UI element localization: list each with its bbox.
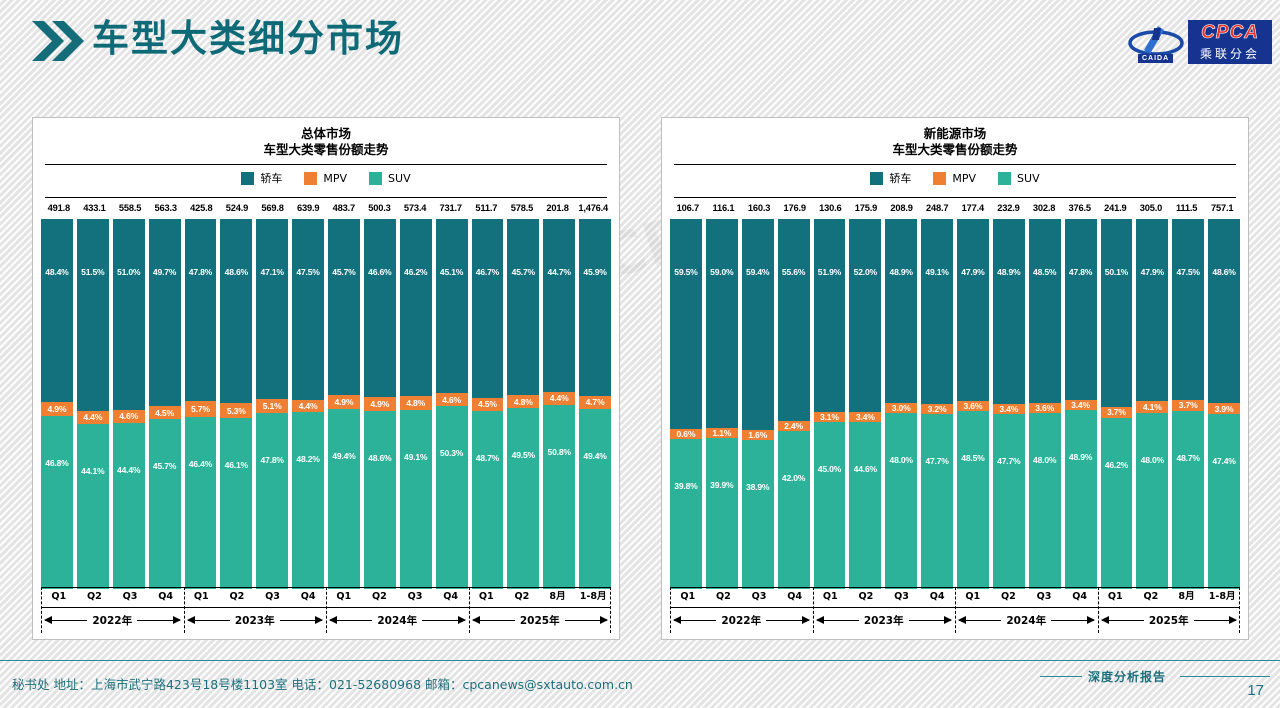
year-group: 2024年 <box>326 607 469 633</box>
segment-label: 3.4% <box>1071 400 1090 410</box>
total-value: 177.4 <box>955 203 991 213</box>
bar-segment-轿车[interactable]: 47.1% <box>256 219 288 399</box>
bar-column[interactable]: 48.9%3.0%48.0% <box>885 219 917 589</box>
segment-label: 45.1% <box>440 267 463 277</box>
footer-contact: 秘书处 地址：上海市武宁路423号18号楼1103室 电话：021-526809… <box>12 674 633 693</box>
bar-column[interactable]: 50.1%3.7%46.2% <box>1101 219 1133 589</box>
year-label: 2022年 <box>87 613 137 628</box>
chart-panel-nev: 新能源市场车型大类零售份额走势轿车MPVSUV106.7116.1160.317… <box>661 117 1249 640</box>
segment-label: 49.1% <box>404 452 427 462</box>
segment-label: 3.2% <box>928 404 947 414</box>
segment-label: 47.8% <box>261 455 284 465</box>
segment-label: 52.0% <box>854 267 877 277</box>
bar-segment-suv[interactable]: 42.0% <box>778 431 810 589</box>
segment-label: 44.7% <box>548 267 571 277</box>
bar-column[interactable]: 48.9%3.4%47.7% <box>993 219 1025 589</box>
legend-label: SUV <box>1017 172 1040 185</box>
x-axis: Q1Q2Q3Q4Q1Q2Q3Q4Q1Q2Q3Q4Q1Q28月1-8月2022年2… <box>670 587 1240 635</box>
bar-segment-mpv[interactable]: 5.7% <box>185 401 217 417</box>
bar-segment-mpv[interactable]: 4.8% <box>400 396 432 409</box>
bar-column[interactable]: 45.7%4.9%49.4% <box>328 219 360 589</box>
segment-label: 48.9% <box>1069 452 1092 462</box>
segment-label: 50.1% <box>1105 267 1128 277</box>
segment-label: 4.1% <box>1143 402 1162 412</box>
cpca-ellipse-icon <box>1128 24 1184 58</box>
bar-segment-轿车[interactable]: 51.0% <box>113 219 145 410</box>
segment-label: 49.4% <box>332 451 355 461</box>
bar-column[interactable]: 51.5%4.4%44.1% <box>77 219 109 589</box>
segment-label: 1.1% <box>712 428 731 438</box>
bar-segment-轿车[interactable]: 48.4% <box>41 219 73 402</box>
bar-segment-suv[interactable]: 48.2% <box>292 412 324 589</box>
bar-column[interactable]: 44.7%4.4%50.8% <box>543 219 575 589</box>
bar-segment-suv[interactable]: 39.9% <box>706 438 738 589</box>
bar-segment-suv[interactable]: 50.3% <box>436 406 468 589</box>
bar-segment-mpv[interactable]: 4.9% <box>41 402 73 416</box>
cpca-wordmark: CPCA <box>1188 22 1272 44</box>
year-label: 2023年 <box>230 613 280 628</box>
bar-segment-mpv[interactable]: 4.4% <box>77 411 109 423</box>
total-value: 511.7 <box>469 203 505 213</box>
bar-segment-suv[interactable]: 48.5% <box>957 411 989 589</box>
bar-segment-mpv[interactable]: 4.7% <box>579 396 611 409</box>
bars-area: 59.5%0.6%39.8%59.0%1.1%39.9%59.4%1.6%38.… <box>670 219 1240 589</box>
bar-column[interactable]: 55.6%2.4%42.0% <box>778 219 810 589</box>
year-label: 2025年 <box>1144 613 1194 628</box>
segment-label: 3.4% <box>856 412 875 422</box>
year-divider <box>610 587 611 633</box>
segment-label: 47.5% <box>296 267 319 277</box>
bar-segment-轿车[interactable]: 47.8% <box>1065 219 1097 400</box>
segment-label: 48.4% <box>45 267 68 277</box>
bar-segment-轿车[interactable]: 47.5% <box>292 219 324 400</box>
bar-segment-suv[interactable]: 49.4% <box>328 409 360 589</box>
bar-column[interactable]: 47.5%4.4%48.2% <box>292 219 324 589</box>
axis-tick-label: Q2 <box>504 587 540 607</box>
double-chevron-right-icon <box>30 17 86 65</box>
bar-column[interactable]: 48.5%3.6%48.0% <box>1029 219 1061 589</box>
axis-tick-label: Q4 <box>919 587 955 607</box>
bar-segment-mpv[interactable]: 3.6% <box>957 401 989 411</box>
segment-label: 51.9% <box>818 267 841 277</box>
segment-label: 46.7% <box>476 267 499 277</box>
bar-segment-mpv[interactable]: 4.1% <box>1136 401 1168 412</box>
segment-label: 46.1% <box>225 460 248 470</box>
axis-tick-label: Q4 <box>1062 587 1098 607</box>
bar-segment-mpv[interactable]: 1.6% <box>742 430 774 440</box>
axis-tick-label: Q4 <box>777 587 813 607</box>
bar-segment-suv[interactable]: 48.0% <box>885 413 917 589</box>
segment-label: 59.4% <box>746 267 769 277</box>
bar-segment-轿车[interactable]: 59.5% <box>670 219 702 429</box>
segment-label: 42.0% <box>782 473 805 483</box>
segment-label: 4.6% <box>119 411 138 421</box>
segment-label: 48.9% <box>997 267 1020 277</box>
totals-row: 106.7116.1160.3176.9130.6175.9208.9248.7… <box>670 198 1240 218</box>
bar-column[interactable]: 48.4%4.9%46.8% <box>41 219 73 589</box>
page-title: 车型大类细分市场 <box>92 14 404 64</box>
bar-segment-轿车[interactable]: 52.0% <box>849 219 881 412</box>
bar-segment-轿车[interactable]: 45.9% <box>579 219 611 396</box>
segment-label: 4.4% <box>83 412 102 422</box>
bar-segment-suv[interactable]: 38.9% <box>742 440 774 589</box>
total-value: 491.8 <box>41 203 77 213</box>
segment-label: 4.4% <box>299 401 318 411</box>
year-divider <box>955 587 956 633</box>
bar-segment-轿车[interactable]: 48.9% <box>993 219 1025 404</box>
bar-segment-mpv[interactable]: 4.4% <box>543 392 575 404</box>
bar-column[interactable]: 49.7%4.5%45.7% <box>149 219 181 589</box>
axis-tick-label: Q1 <box>955 587 991 607</box>
bar-segment-轿车[interactable]: 55.6% <box>778 219 810 421</box>
bar-column[interactable]: 46.7%4.5%48.7% <box>472 219 504 589</box>
chart-panel-overall: 总体市场车型大类零售份额走势轿车MPVSUV491.8433.1558.5563… <box>32 117 620 640</box>
segment-label: 3.7% <box>1107 407 1126 417</box>
bar-segment-轿车[interactable]: 47.9% <box>957 219 989 401</box>
year-label: 2024年 <box>372 613 422 628</box>
bar-column[interactable]: 52.0%3.4%44.6% <box>849 219 881 589</box>
segment-label: 48.0% <box>1033 455 1056 465</box>
total-value: 111.5 <box>1169 203 1205 213</box>
year-label: 2022年 <box>716 613 766 628</box>
segment-label: 45.7% <box>512 267 535 277</box>
bar-segment-suv[interactable]: 48.9% <box>1065 410 1097 589</box>
bar-segment-mpv[interactable]: 3.7% <box>1101 407 1133 417</box>
bar-segment-mpv[interactable]: 4.6% <box>436 393 468 406</box>
cpca-subtitle: 乘联分会 <box>1188 45 1272 62</box>
segment-label: 46.6% <box>368 267 391 277</box>
bar-segment-轿车[interactable]: 48.6% <box>220 219 252 403</box>
total-value: 433.1 <box>77 203 113 213</box>
axis-tick-label: Q1 <box>469 587 505 607</box>
bar-column[interactable]: 51.9%3.1%45.0% <box>814 219 846 589</box>
bar-segment-mpv[interactable]: 4.5% <box>149 406 181 419</box>
segment-label: 3.6% <box>1035 403 1054 413</box>
bar-segment-轿车[interactable]: 45.1% <box>436 219 468 393</box>
footer-rule-left <box>1040 676 1082 677</box>
axis-tick-label: 8月 <box>1169 587 1205 607</box>
legend-label: SUV <box>388 172 411 185</box>
caida-mark: CAIDA <box>1138 54 1173 63</box>
bar-segment-mpv[interactable]: 1.1% <box>706 428 738 438</box>
segment-label: 3.6% <box>964 401 983 411</box>
year-divider <box>1098 587 1099 633</box>
total-value: 500.3 <box>362 203 398 213</box>
segment-label: 3.4% <box>999 404 1018 414</box>
bar-column[interactable]: 47.1%5.1%47.8% <box>256 219 288 589</box>
bar-segment-suv[interactable]: 47.8% <box>256 413 288 589</box>
segment-label: 47.4% <box>1212 456 1235 466</box>
page-number: 17 <box>1247 682 1264 699</box>
bar-segment-mpv[interactable]: 3.4% <box>1065 400 1097 410</box>
bar-segment-suv[interactable]: 44.4% <box>113 423 145 589</box>
axis-tick-label: Q2 <box>362 587 398 607</box>
segment-label: 48.9% <box>890 267 913 277</box>
segment-label: 47.7% <box>925 456 948 466</box>
total-value: 1,476.4 <box>575 203 611 213</box>
bar-segment-suv[interactable]: 48.6% <box>364 411 396 589</box>
total-value: 201.8 <box>540 203 576 213</box>
segment-label: 47.9% <box>1141 267 1164 277</box>
segment-label: 3.9% <box>1215 404 1234 414</box>
total-value: 302.8 <box>1026 203 1062 213</box>
legend-swatch-icon <box>304 172 317 185</box>
legend-swatch-icon <box>998 172 1011 185</box>
year-divider <box>41 587 42 633</box>
segment-label: 4.5% <box>155 408 174 418</box>
year-label: 2025年 <box>515 613 565 628</box>
bar-column[interactable]: 59.4%1.6%38.9% <box>742 219 774 589</box>
bar-segment-mpv[interactable]: 3.1% <box>814 412 846 422</box>
bar-segment-suv[interactable]: 47.7% <box>921 414 953 589</box>
bar-segment-suv[interactable]: 45.0% <box>814 422 846 589</box>
bar-segment-suv[interactable]: 48.7% <box>472 411 504 590</box>
legend-item-suv[interactable]: SUV <box>998 172 1040 185</box>
year-group: 2023年 <box>813 607 956 633</box>
total-value: 248.7 <box>919 203 955 213</box>
bar-segment-mpv[interactable]: 4.9% <box>364 397 396 411</box>
chart-subtitle: 车型大类零售份额走势 <box>892 142 1017 157</box>
segment-label: 48.7% <box>476 453 499 463</box>
segment-label: 49.7% <box>153 267 176 277</box>
bar-column[interactable]: 45.9%4.7%49.4% <box>579 219 611 589</box>
bar-column[interactable]: 51.0%4.6%44.4% <box>113 219 145 589</box>
legend-item-suv[interactable]: SUV <box>369 172 411 185</box>
footer-divider <box>0 660 1280 661</box>
bar-segment-轿车[interactable]: 48.5% <box>1029 219 1061 403</box>
year-divider <box>184 587 185 633</box>
bar-segment-轿车[interactable]: 50.1% <box>1101 219 1133 407</box>
bar-segment-suv[interactable]: 46.2% <box>1101 418 1133 589</box>
segment-label: 59.0% <box>710 267 733 277</box>
segment-label: 4.5% <box>478 399 497 409</box>
cpca-logo-box: CPCA 乘联分会 <box>1188 20 1272 64</box>
axis-tick-label: Q2 <box>77 587 113 607</box>
bar-segment-轿车[interactable]: 45.7% <box>507 219 539 395</box>
bar-segment-mpv[interactable]: 4.6% <box>113 410 145 423</box>
bar-segment-suv[interactable]: 50.8% <box>543 405 575 589</box>
bar-segment-轿车[interactable]: 46.7% <box>472 219 504 398</box>
bar-segment-mpv[interactable]: 3.4% <box>993 404 1025 414</box>
axis-tick-label: Q2 <box>991 587 1027 607</box>
bar-column[interactable]: 59.5%0.6%39.8% <box>670 219 702 589</box>
bar-segment-mpv[interactable]: 3.2% <box>921 404 953 414</box>
segment-label: 4.7% <box>586 397 605 407</box>
axis-tick-label: 8月 <box>540 587 576 607</box>
bar-column[interactable]: 47.9%3.6%48.5% <box>957 219 989 589</box>
year-group: 2025年 <box>469 607 612 633</box>
bar-segment-轿车[interactable]: 59.0% <box>706 219 738 428</box>
year-group: 2024年 <box>955 607 1098 633</box>
year-divider <box>813 587 814 633</box>
bar-segment-轿车[interactable]: 46.6% <box>364 219 396 397</box>
bar-segment-mpv[interactable]: 4.9% <box>328 395 360 409</box>
year-divider <box>326 587 327 633</box>
segment-label: 0.6% <box>677 429 696 439</box>
segment-label: 48.0% <box>890 455 913 465</box>
bar-segment-suv[interactable]: 48.7% <box>1172 411 1204 590</box>
bar-segment-suv[interactable]: 44.1% <box>77 424 109 589</box>
segment-label: 49.1% <box>925 267 948 277</box>
legend-item-轿车[interactable]: 轿车 <box>870 170 911 186</box>
bar-segment-suv[interactable]: 46.4% <box>185 417 217 589</box>
bar-column[interactable]: 46.2%4.8%49.1% <box>400 219 432 589</box>
segment-label: 3.7% <box>1179 400 1198 410</box>
bar-segment-mpv[interactable]: 3.6% <box>1029 403 1061 413</box>
axis-tick-label: Q1 <box>184 587 220 607</box>
segment-label: 3.0% <box>892 403 911 413</box>
footer-report-block: 深度分析报告 17 <box>1040 662 1270 706</box>
axis-tick-label: Q3 <box>1026 587 1062 607</box>
bar-segment-suv[interactable]: 46.8% <box>41 416 73 589</box>
segment-label: 5.1% <box>263 401 282 411</box>
bar-segment-轿车[interactable]: 46.2% <box>400 219 432 396</box>
bar-segment-mpv[interactable]: 3.0% <box>885 403 917 413</box>
segment-label: 3.1% <box>820 412 839 422</box>
bar-segment-suv[interactable]: 45.7% <box>149 419 181 589</box>
bar-segment-mpv[interactable]: 5.1% <box>256 399 288 413</box>
segment-label: 48.7% <box>1177 453 1200 463</box>
page-header: 车型大类细分市场 CAIDA CPCA 乘联分会 <box>0 0 1280 86</box>
total-value: 232.9 <box>991 203 1027 213</box>
bar-segment-轿车[interactable]: 59.4% <box>742 219 774 430</box>
bar-segment-mpv[interactable]: 5.3% <box>220 403 252 418</box>
bar-column[interactable]: 47.9%4.1%48.0% <box>1136 219 1168 589</box>
segment-label: 47.8% <box>1069 267 1092 277</box>
bar-segment-mpv[interactable]: 0.6% <box>670 429 702 439</box>
bar-column[interactable]: 47.8%3.4%48.9% <box>1065 219 1097 589</box>
segment-label: 55.6% <box>782 267 805 277</box>
segment-label: 45.0% <box>818 464 841 474</box>
bar-column[interactable]: 48.6%3.9%47.4% <box>1208 219 1240 589</box>
axis-tick-label: Q3 <box>397 587 433 607</box>
total-value: 305.0 <box>1133 203 1169 213</box>
segment-label: 5.3% <box>227 406 246 416</box>
legend-label: 轿车 <box>889 170 911 186</box>
bar-column[interactable]: 47.5%3.7%48.7% <box>1172 219 1204 589</box>
segment-label: 48.6% <box>368 453 391 463</box>
total-value: 757.1 <box>1204 203 1240 213</box>
bar-segment-suv[interactable]: 49.5% <box>507 408 539 589</box>
bar-segment-suv[interactable]: 49.4% <box>579 409 611 589</box>
total-value: 569.8 <box>255 203 291 213</box>
legend-swatch-icon <box>870 172 883 185</box>
legend-item-mpv[interactable]: MPV <box>304 172 347 185</box>
bar-segment-suv[interactable]: 48.0% <box>1029 413 1061 589</box>
bar-segment-suv[interactable]: 44.6% <box>849 422 881 589</box>
bar-segment-suv[interactable]: 49.1% <box>400 410 432 589</box>
chart-title-main: 总体市场 <box>301 126 351 141</box>
bar-column[interactable]: 49.1%3.2%47.7% <box>921 219 953 589</box>
bar-column[interactable]: 45.1%4.6%50.3% <box>436 219 468 589</box>
bar-segment-mpv[interactable]: 3.9% <box>1208 403 1240 414</box>
bar-column[interactable]: 59.0%1.1%39.9% <box>706 219 738 589</box>
segment-label: 48.5% <box>961 453 984 463</box>
bar-segment-suv[interactable]: 46.1% <box>220 418 252 589</box>
footer-report-label: 深度分析报告 <box>1088 668 1166 685</box>
segment-label: 51.0% <box>117 267 140 277</box>
axis-tick-label: Q1 <box>41 587 77 607</box>
segment-label: 38.9% <box>746 482 769 492</box>
bar-segment-轿车[interactable]: 49.7% <box>149 219 181 406</box>
bar-segment-轿车[interactable]: 51.9% <box>814 219 846 412</box>
bar-column[interactable]: 45.7%4.8%49.5% <box>507 219 539 589</box>
bar-segment-suv[interactable]: 39.8% <box>670 439 702 589</box>
segment-label: 39.9% <box>710 480 733 490</box>
year-label: 2023年 <box>859 613 909 628</box>
axis-tick-label: Q1 <box>1098 587 1134 607</box>
bar-segment-suv[interactable]: 47.4% <box>1208 414 1240 589</box>
axis-year-row: 2022年2023年2024年2025年 <box>41 607 611 633</box>
total-value: 639.9 <box>290 203 326 213</box>
segment-label: 48.6% <box>225 267 248 277</box>
total-value: 578.5 <box>504 203 540 213</box>
bar-segment-mpv[interactable]: 4.8% <box>507 395 539 408</box>
bar-segment-轿车[interactable]: 47.5% <box>1172 219 1204 400</box>
year-group: 2022年 <box>41 607 184 633</box>
segment-label: 49.4% <box>583 451 606 461</box>
total-value: 376.5 <box>1062 203 1098 213</box>
bar-segment-轿车[interactable]: 48.9% <box>885 219 917 403</box>
segment-label: 46.2% <box>1105 460 1128 470</box>
axis-tick-label: 1-8月 <box>575 587 611 607</box>
bar-column[interactable]: 48.6%5.3%46.1% <box>220 219 252 589</box>
bar-column[interactable]: 46.6%4.9%48.6% <box>364 219 396 589</box>
bar-segment-轿车[interactable]: 51.5% <box>77 219 109 411</box>
legend-item-mpv[interactable]: MPV <box>933 172 976 185</box>
total-value: 116.1 <box>706 203 742 213</box>
legend-swatch-icon <box>369 172 382 185</box>
bar-segment-轿车[interactable]: 49.1% <box>921 219 953 404</box>
page-footer: 秘书处 地址：上海市武宁路423号18号楼1103室 电话：021-526809… <box>0 660 1280 708</box>
segment-label: 59.5% <box>674 267 697 277</box>
segment-label: 1.6% <box>748 430 767 440</box>
bar-segment-mpv[interactable]: 4.4% <box>292 400 324 412</box>
bar-segment-mpv[interactable]: 3.7% <box>1172 400 1204 410</box>
total-value: 176.9 <box>777 203 813 213</box>
bar-segment-轿车[interactable]: 47.9% <box>1136 219 1168 401</box>
axis-tick-label: Q4 <box>148 587 184 607</box>
year-group: 2025年 <box>1098 607 1241 633</box>
bar-segment-mpv[interactable]: 4.5% <box>472 398 504 411</box>
bar-segment-轿车[interactable]: 47.8% <box>185 219 217 401</box>
bar-column[interactable]: 47.8%5.7%46.4% <box>185 219 217 589</box>
bar-segment-轿车[interactable]: 45.7% <box>328 219 360 395</box>
total-value: 558.5 <box>112 203 148 213</box>
year-divider <box>469 587 470 633</box>
bar-segment-轿车[interactable]: 44.7% <box>543 219 575 392</box>
legend-item-轿车[interactable]: 轿车 <box>241 170 282 186</box>
total-value: 241.9 <box>1098 203 1134 213</box>
year-divider <box>670 587 671 633</box>
bar-segment-suv[interactable]: 47.7% <box>993 414 1025 589</box>
axis-tick-label: Q2 <box>1133 587 1169 607</box>
bar-segment-mpv[interactable]: 3.4% <box>849 412 881 422</box>
total-value: 175.9 <box>848 203 884 213</box>
axis-tick-label: Q3 <box>741 587 777 607</box>
segment-label: 48.2% <box>296 454 319 464</box>
cpca-logo: CAIDA CPCA 乘联分会 <box>1126 16 1272 68</box>
total-value: 483.7 <box>326 203 362 213</box>
total-value: 160.3 <box>741 203 777 213</box>
bar-segment-mpv[interactable]: 2.4% <box>778 421 810 431</box>
segment-label: 49.5% <box>512 450 535 460</box>
axis-tick-label: Q2 <box>848 587 884 607</box>
bar-segment-suv[interactable]: 48.0% <box>1136 413 1168 589</box>
bar-segment-轿车[interactable]: 48.6% <box>1208 219 1240 403</box>
chart-legend: 轿车MPVSUV <box>662 165 1248 191</box>
axis-tick-label: Q4 <box>290 587 326 607</box>
